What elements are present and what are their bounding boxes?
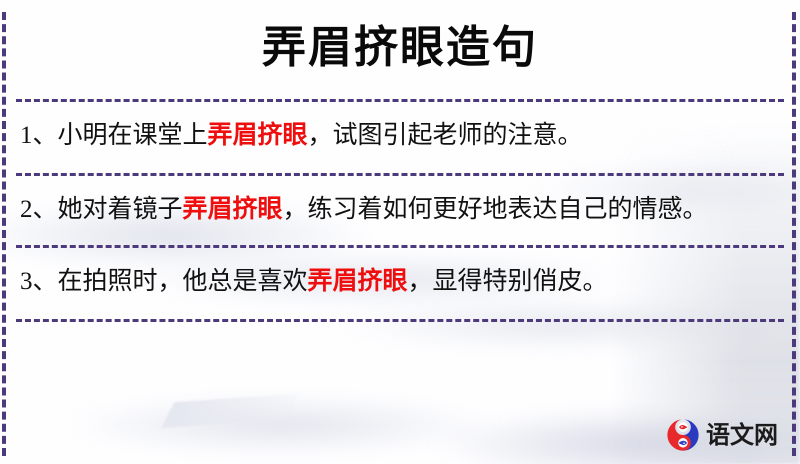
sentence-item-1: 1、小明在课堂上弄眉挤眼，试图引起老师的注意。 [16, 102, 784, 157]
sentence-2-before: 她对着镜子 [58, 196, 183, 223]
sentence-item-2: 2、她对着镜子弄眉挤眼，练习着如何更好地表达自己的情感。 [16, 176, 784, 231]
sentence-2-index: 2、 [20, 196, 58, 223]
sentence-1-before: 小明在课堂上 [58, 122, 208, 149]
sentence-1-after: ，试图引起老师的注意。 [308, 122, 583, 149]
sentence-1-keyword: 弄眉挤眼 [208, 122, 308, 149]
sentence-1-index: 1、 [20, 122, 58, 149]
sentence-item-3: 3、在拍照时，他总是喜欢弄眉挤眼，显得特别俏皮。 [16, 248, 784, 303]
slide-content: 弄眉挤眼造句 1、小明在课堂上弄眉挤眼，试图引起老师的注意。 2、她对着镜子弄眉… [0, 0, 800, 464]
taiji-fish-logo-icon [666, 418, 700, 452]
sentence-3-after: ，显得特别俏皮。 [408, 268, 608, 295]
divider-4 [16, 319, 784, 322]
sentence-3-keyword: 弄眉挤眼 [308, 268, 408, 295]
site-watermark-logo[interactable]: 语文网 [666, 418, 778, 452]
sentence-2-after: ，练习着如何更好地表达自己的情感。 [283, 196, 708, 223]
sentence-3-index: 3、 [20, 268, 58, 295]
page-title: 弄眉挤眼造句 [16, 0, 784, 70]
site-watermark-text: 语文网 [706, 423, 778, 447]
slide-root: 弄眉挤眼造句 1、小明在课堂上弄眉挤眼，试图引起老师的注意。 2、她对着镜子弄眉… [0, 0, 800, 464]
sentence-2-keyword: 弄眉挤眼 [183, 196, 283, 223]
sentence-3-before: 在拍照时，他总是喜欢 [58, 268, 308, 295]
